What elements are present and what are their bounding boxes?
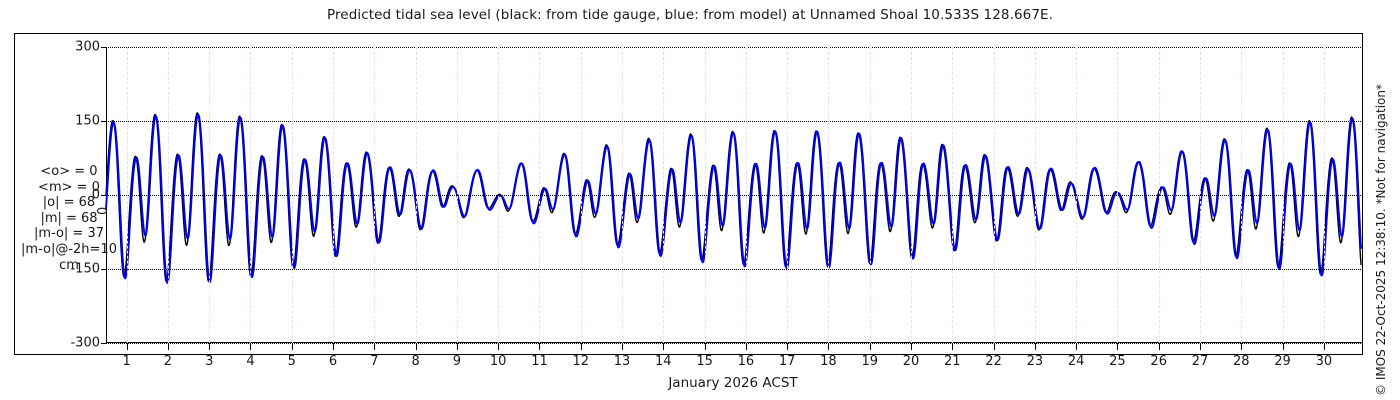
y-axis-label: 0	[96, 207, 111, 215]
x-tick-label: 13	[614, 354, 631, 369]
x-tick-label: 28	[1233, 354, 1250, 369]
x-tick-mark	[539, 343, 540, 350]
x-tick-label: 27	[1192, 354, 1209, 369]
x-tick-label: 3	[205, 354, 213, 369]
plot-outer-frame: <o> = 0<m> = 0|o| = 68|m| = 68|m-o| = 37…	[14, 33, 1363, 355]
x-tick-label: 11	[531, 354, 548, 369]
x-tick-mark	[292, 343, 293, 350]
x-tick-mark	[1283, 343, 1284, 350]
gridline-vertical	[209, 47, 210, 343]
x-tick-label: 15	[696, 354, 713, 369]
x-tick-label: 24	[1068, 354, 1085, 369]
x-tick-mark	[1200, 343, 1201, 350]
gridline-vertical	[374, 47, 375, 343]
gridline-horizontal	[106, 47, 1361, 48]
x-tick-label: 22	[985, 354, 1002, 369]
gridline-vertical	[911, 47, 912, 343]
gridline-vertical	[746, 47, 747, 343]
x-tick-mark	[1159, 343, 1160, 350]
gridline-horizontal	[106, 343, 1361, 344]
y-tick-label: -150	[70, 262, 100, 277]
gridline-vertical	[952, 47, 953, 343]
x-tick-mark	[663, 343, 664, 350]
gridline-vertical	[1241, 47, 1242, 343]
gridline-vertical	[581, 47, 582, 343]
copyright-credit: © IMOS 22-Oct-2025 12:38:10. *Not for na…	[1374, 84, 1388, 396]
gridline-vertical	[663, 47, 664, 343]
y-tick-mark	[101, 343, 106, 344]
x-tick-label: 20	[903, 354, 920, 369]
x-tick-label: 19	[861, 354, 878, 369]
gridline-horizontal	[106, 121, 1361, 122]
x-tick-mark	[870, 343, 871, 350]
plot-area: 3001500-150-3001234567891011121314151617…	[106, 47, 1361, 343]
x-tick-label: 8	[411, 354, 419, 369]
x-tick-mark	[994, 343, 995, 350]
x-tick-mark	[911, 343, 912, 350]
x-tick-mark	[581, 343, 582, 350]
gridline-vertical	[870, 47, 871, 343]
gridline-horizontal	[106, 269, 1361, 270]
x-tick-mark	[1241, 343, 1242, 350]
x-tick-mark	[705, 343, 706, 350]
x-tick-mark	[209, 343, 210, 350]
x-tick-mark	[1076, 343, 1077, 350]
x-tick-mark	[1324, 343, 1325, 350]
y-tick-label: 0	[92, 188, 100, 203]
chart-page: Predicted tidal sea level (black: from t…	[0, 0, 1400, 400]
x-tick-mark	[457, 343, 458, 350]
gridline-vertical	[539, 47, 540, 343]
x-tick-label: 9	[453, 354, 461, 369]
gridline-vertical	[1035, 47, 1036, 343]
x-tick-label: 4	[246, 354, 254, 369]
x-tick-label: 7	[370, 354, 378, 369]
gridline-vertical	[828, 47, 829, 343]
x-tick-label: 21	[944, 354, 961, 369]
x-tick-label: 10	[490, 354, 507, 369]
gridline-vertical	[416, 47, 417, 343]
x-tick-label: 16	[738, 354, 755, 369]
gridline-vertical	[457, 47, 458, 343]
gridline-vertical	[168, 47, 169, 343]
series-line-model	[106, 114, 1361, 282]
x-tick-label: 1	[123, 354, 131, 369]
x-tick-label: 12	[572, 354, 589, 369]
y-tick-mark	[101, 269, 106, 270]
x-tick-mark	[250, 343, 251, 350]
x-tick-mark	[333, 343, 334, 350]
gridline-vertical	[250, 47, 251, 343]
x-tick-mark	[622, 343, 623, 350]
y-tick-label: 300	[75, 40, 100, 55]
gridline-horizontal	[106, 195, 1361, 196]
gridline-vertical	[1076, 47, 1077, 343]
chart-title: Predicted tidal sea level (black: from t…	[0, 7, 1380, 23]
x-tick-mark	[1117, 343, 1118, 350]
gridline-vertical	[498, 47, 499, 343]
y-tick-mark	[101, 121, 106, 122]
gridline-vertical	[1159, 47, 1160, 343]
series-line-observed	[106, 113, 1361, 282]
y-tick-label: 150	[75, 114, 100, 129]
x-tick-label: 6	[329, 354, 337, 369]
gridline-vertical	[1324, 47, 1325, 343]
gridline-vertical	[622, 47, 623, 343]
x-tick-label: 14	[655, 354, 672, 369]
x-tick-mark	[746, 343, 747, 350]
gridline-vertical	[292, 47, 293, 343]
y-tick-mark	[101, 47, 106, 48]
x-tick-mark	[1035, 343, 1036, 350]
gridline-vertical	[127, 47, 128, 343]
x-tick-label: 23	[1027, 354, 1044, 369]
x-axis-label: January 2026 ACST	[105, 375, 1361, 391]
x-tick-mark	[416, 343, 417, 350]
x-tick-mark	[787, 343, 788, 350]
gridline-vertical	[1200, 47, 1201, 343]
x-tick-label: 30	[1316, 354, 1333, 369]
x-tick-mark	[127, 343, 128, 350]
x-tick-label: 5	[288, 354, 296, 369]
x-tick-mark	[498, 343, 499, 350]
x-tick-mark	[168, 343, 169, 350]
x-tick-mark	[952, 343, 953, 350]
x-tick-mark	[828, 343, 829, 350]
y-tick-mark	[101, 195, 106, 196]
x-tick-label: 18	[820, 354, 837, 369]
x-tick-label: 25	[1109, 354, 1126, 369]
x-tick-label: 26	[1150, 354, 1167, 369]
x-tick-mark	[374, 343, 375, 350]
x-tick-label: 2	[164, 354, 172, 369]
x-tick-label: 17	[779, 354, 796, 369]
gridline-vertical	[994, 47, 995, 343]
gridline-vertical	[333, 47, 334, 343]
x-tick-label: 29	[1274, 354, 1291, 369]
gridline-vertical	[787, 47, 788, 343]
y-tick-label: -300	[70, 336, 100, 351]
gridline-vertical	[1117, 47, 1118, 343]
gridline-vertical	[1283, 47, 1284, 343]
gridline-vertical	[705, 47, 706, 343]
